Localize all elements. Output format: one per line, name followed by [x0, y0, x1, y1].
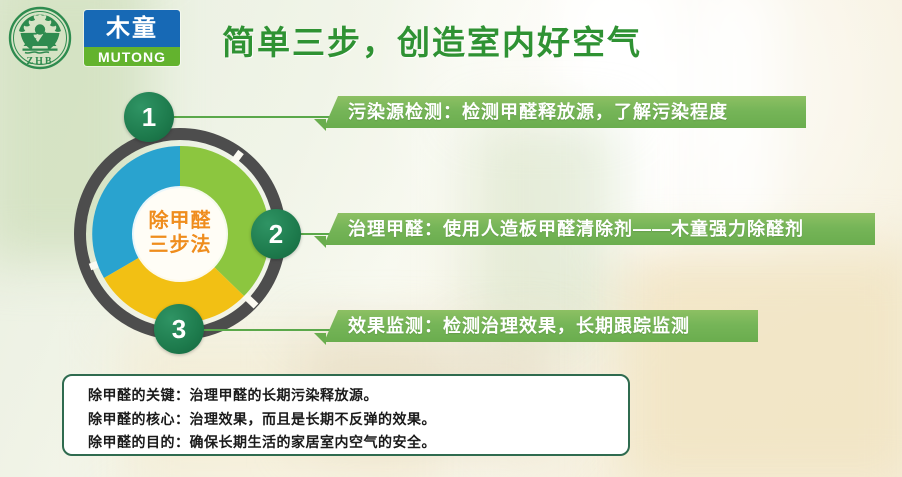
background-blur-warm	[620, 250, 902, 477]
zhb-logo-icon: ZHB	[8, 6, 72, 70]
banner-tail-2	[314, 236, 326, 248]
step-banner-3: 效果监测：检测治理效果，长期跟踪监测	[324, 310, 758, 342]
page-title: 简单三步，创造室内好空气	[222, 16, 692, 64]
step-bubble-3-number: 3	[172, 314, 186, 345]
donut-center-line-2: 三步法	[149, 234, 212, 258]
mutong-logo: 木童 MUTONG	[84, 10, 180, 66]
donut-center-label: 除甲醛 三步法	[134, 188, 226, 280]
step-bubble-1-number: 1	[142, 102, 156, 133]
connector-line-step-2	[296, 233, 330, 235]
mutong-logo-cn-text: 木童	[84, 17, 180, 41]
note-line-1: 除甲醛的关键：治理甲醛的长期污染释放源。	[88, 385, 628, 406]
step-banner-1-text: 污染源检测：检测甲醛释放源，了解污染程度	[324, 103, 728, 121]
banner-tail-1	[314, 119, 326, 131]
step-bubble-1[interactable]: 1	[124, 92, 174, 142]
step-banner-1: 污染源检测：检测甲醛释放源，了解污染程度	[324, 96, 806, 128]
step-bubble-2-number: 2	[269, 219, 283, 250]
banner-tail-3	[314, 333, 326, 345]
donut-center-line-1: 除甲醛	[149, 210, 212, 234]
mutong-logo-en-text: MUTONG	[98, 50, 166, 64]
connector-line-step-1	[168, 116, 330, 118]
connector-line-step-3	[198, 329, 330, 331]
summary-note-box: 除甲醛的关键：治理甲醛的长期污染释放源。 除甲醛的核心：治理效果，而且是长期不反…	[62, 374, 630, 456]
step-banner-2-text: 治理甲醛：使用人造板甲醛清除剂——木童强力除醛剂	[324, 220, 804, 238]
note-line-3: 除甲醛的目的：确保长期生活的家居室内空气的安全。	[88, 432, 628, 453]
mutong-logo-cn-band: 木童	[84, 10, 180, 47]
note-line-2: 除甲醛的核心：治理效果，而且是长期不反弹的效果。	[88, 409, 628, 430]
zhb-logo-text: ZHB	[26, 56, 53, 67]
infographic-slide: ZHB 木童 MUTONG 简单三步，创造室内好空气	[0, 0, 902, 477]
step-banner-3-text: 效果监测：检测治理效果，长期跟踪监测	[324, 317, 690, 335]
mutong-logo-en-band: MUTONG	[84, 47, 180, 66]
step-bubble-3[interactable]: 3	[154, 304, 204, 354]
step-bubble-2[interactable]: 2	[251, 209, 301, 259]
step-banner-2: 治理甲醛：使用人造板甲醛清除剂——木童强力除醛剂	[324, 213, 875, 245]
